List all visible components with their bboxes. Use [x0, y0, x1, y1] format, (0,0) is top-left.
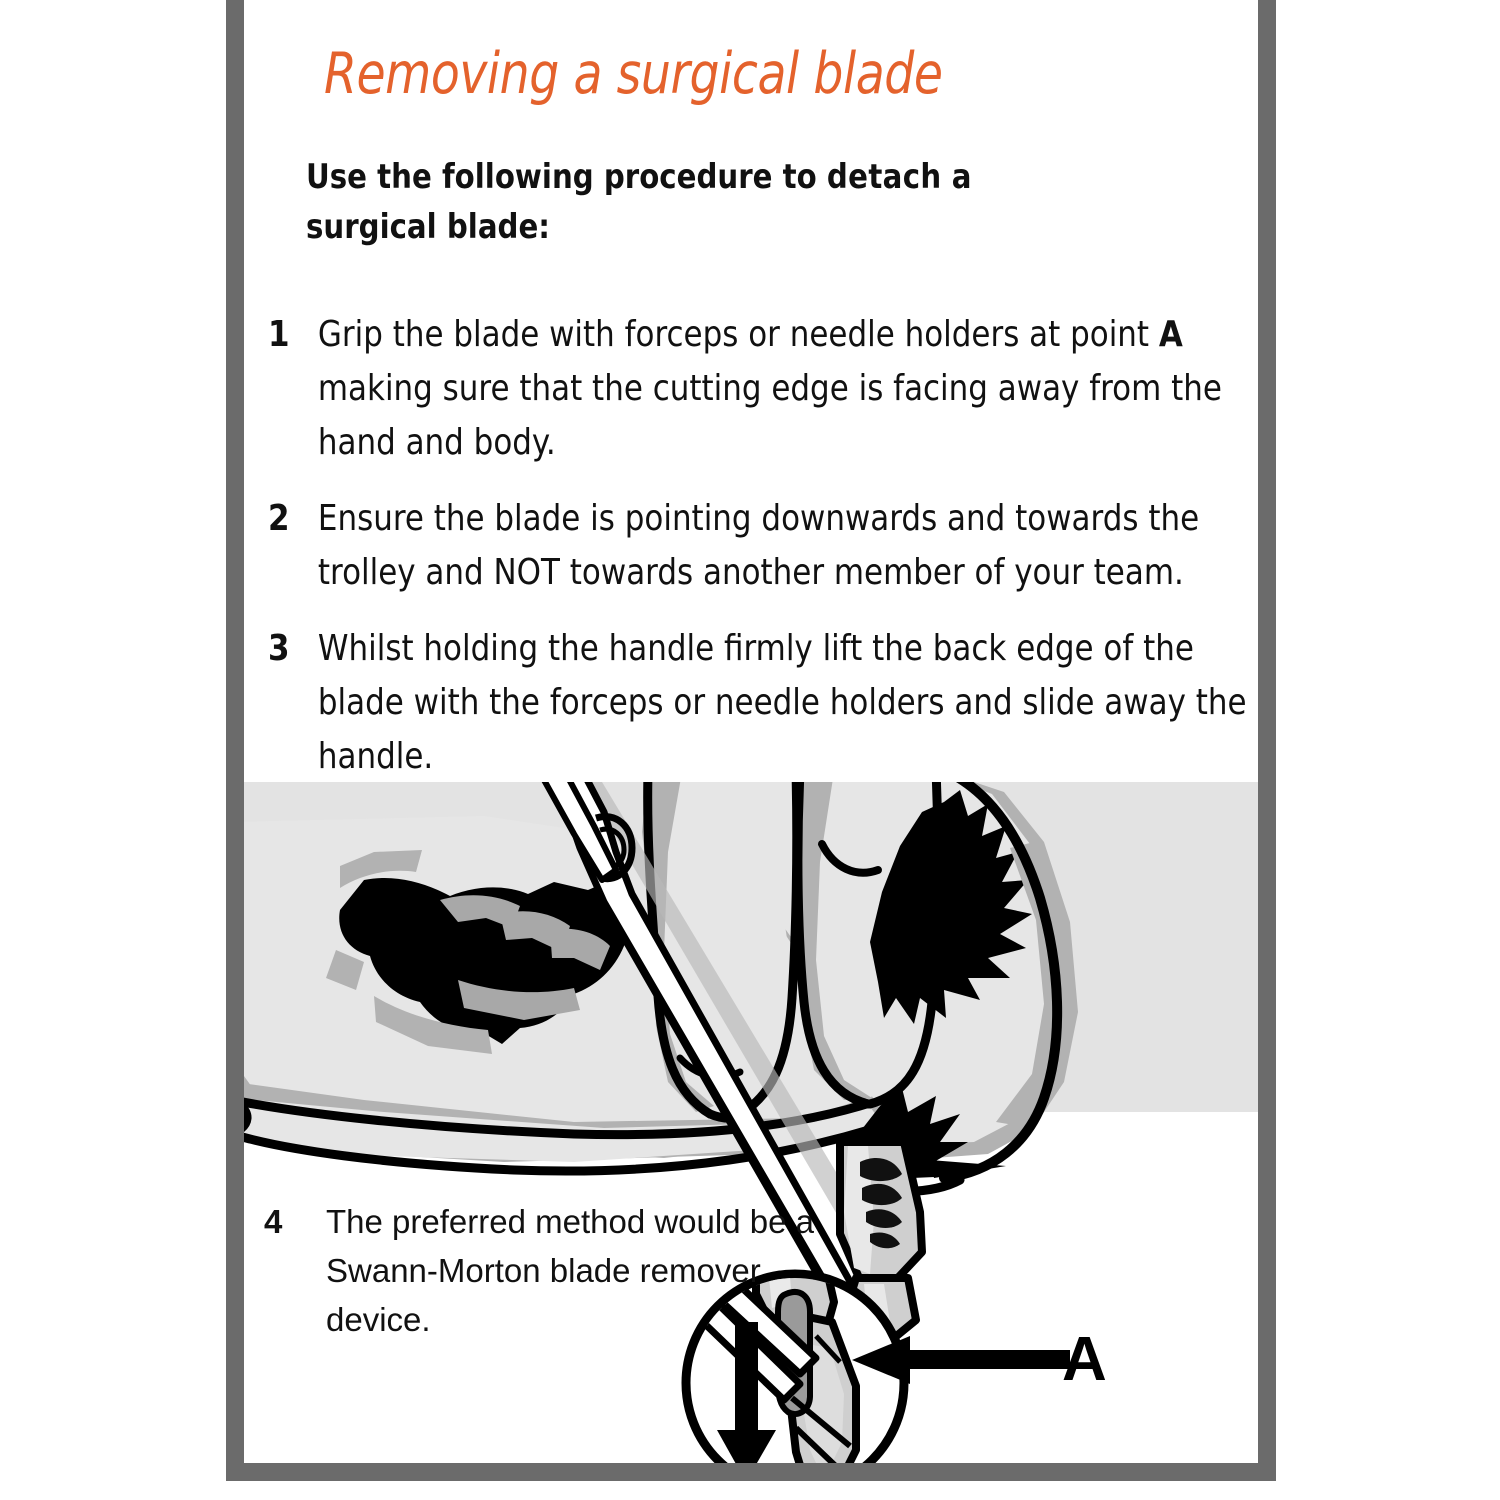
- intro-lead: Use the following procedure to: [306, 157, 827, 197]
- list-item: 3 Whilst holding the handle firmly lift …: [268, 622, 1248, 784]
- poster-page: Removing a surgical blade Use the follow…: [244, 40, 1258, 1463]
- step-text: Whilst holding the handle firmly lift th…: [318, 622, 1249, 784]
- list-item-step4: 4 The preferred method would be a Swann-…: [264, 1197, 824, 1344]
- step-text-before: Whilst holding the handle firmly lift th…: [318, 628, 1247, 777]
- step-text-before: Grip the blade with forceps or needle ho…: [318, 314, 1159, 355]
- step-number: 3: [268, 622, 304, 676]
- step-emphasis: A: [1159, 314, 1183, 355]
- callout-label-a: A: [1062, 1325, 1107, 1394]
- procedure-illustration: A: [244, 782, 1258, 1463]
- step-number: 4: [264, 1197, 282, 1246]
- intro-paragraph: Use the following procedure to detach a …: [306, 152, 1020, 252]
- step-number: 2: [268, 492, 304, 546]
- step-text-after: making sure that the cutting edge is fac…: [318, 368, 1222, 463]
- poster-root: Removing a surgical blade Use the follow…: [0, 0, 1500, 1500]
- step-text: Ensure the blade is pointing downwards a…: [318, 492, 1249, 600]
- step-text: Grip the blade with forceps or needle ho…: [318, 308, 1249, 470]
- step-text: The preferred method would be a Swann-Mo…: [326, 1197, 824, 1344]
- intro-emphasis: detach: [827, 157, 942, 197]
- step-number: 1: [268, 308, 304, 362]
- steps-list: 1 Grip the blade with forceps or needle …: [268, 308, 1248, 806]
- list-item: 2 Ensure the blade is pointing downwards…: [268, 492, 1248, 600]
- list-item: 1 Grip the blade with forceps or needle …: [268, 308, 1248, 470]
- step-text-before: Ensure the blade is pointing downwards a…: [318, 498, 1199, 593]
- page-title: Removing a surgical blade: [324, 46, 943, 103]
